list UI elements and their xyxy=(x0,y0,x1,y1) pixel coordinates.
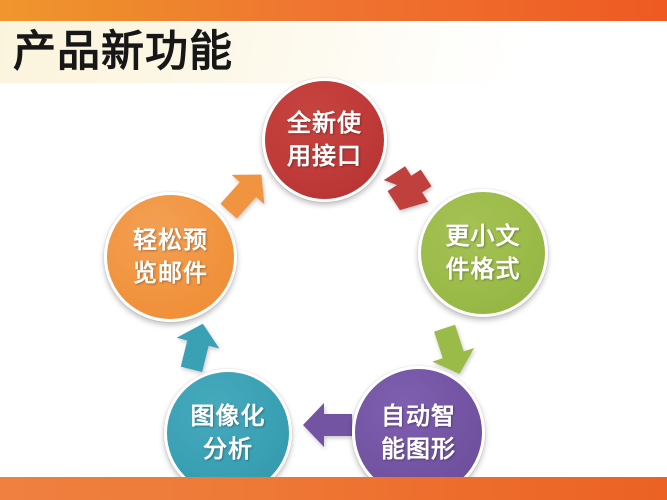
node-label-line-2: 分析 xyxy=(203,433,253,466)
node-label-line-1: 图像化 xyxy=(191,400,266,433)
node-label-line-2: 览邮件 xyxy=(133,257,208,290)
arrow-purple-to-teal xyxy=(300,400,356,455)
node-label-line-2: 能图形 xyxy=(381,433,456,466)
node-label-line-1: 更小文 xyxy=(446,220,521,253)
node-label-line-2: 用接口 xyxy=(287,140,362,173)
node-label-line-1: 自动智 xyxy=(381,400,456,433)
cycle-node-easy-mail-preview[interactable]: 轻松预 览邮件 xyxy=(104,192,237,322)
arrow-red-to-green xyxy=(378,163,434,224)
bottom-accent-bar xyxy=(0,477,667,500)
node-label-line-2: 件格式 xyxy=(446,253,521,286)
cycle-node-smaller-file-format[interactable]: 更小文 件格式 xyxy=(418,189,548,317)
slide-canvas: 产品新功能 xyxy=(0,0,667,500)
cycle-diagram: 全新使 用接口 更小文 件格式 自动智 能图形 图像化 分析 轻松预 览邮件 xyxy=(0,0,667,500)
node-label-line-1: 轻松预 xyxy=(133,224,208,257)
node-label-line-1: 全新使 xyxy=(287,107,362,140)
cycle-node-new-interface[interactable]: 全新使 用接口 xyxy=(262,78,387,202)
